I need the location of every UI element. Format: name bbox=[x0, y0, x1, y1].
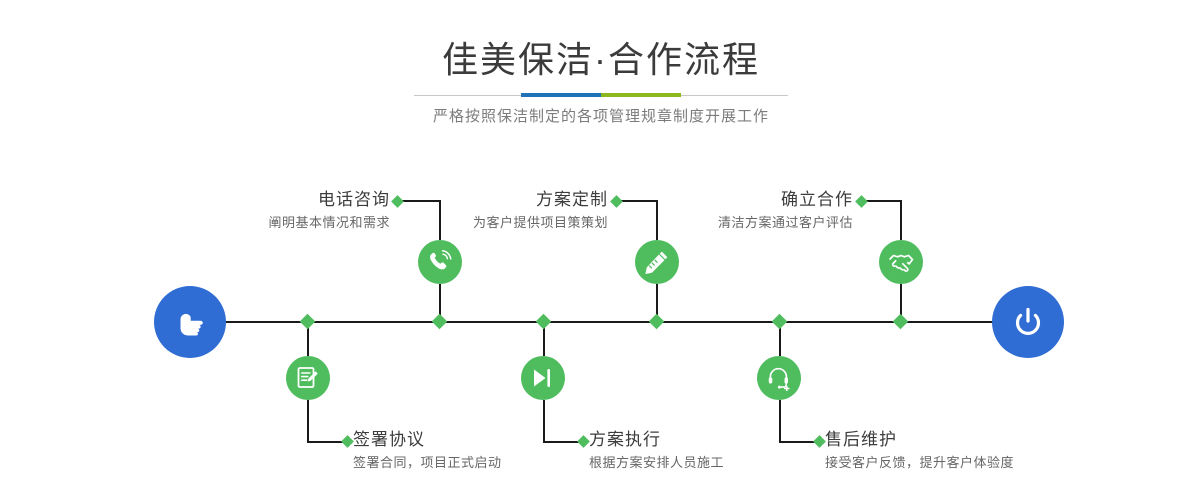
axis-marker-1 bbox=[432, 314, 448, 330]
label-tip-5 bbox=[855, 195, 868, 208]
step-label-2: 签署协议 签署合同，项目正式启动 bbox=[353, 428, 613, 474]
pencil-ruler-icon bbox=[644, 249, 670, 275]
step-title-5: 确立合作 bbox=[615, 188, 853, 212]
step-desc-4: 根据方案安排人员施工 bbox=[589, 452, 849, 474]
step-node-4[interactable] bbox=[521, 356, 565, 400]
page-title: 佳美保洁·合作流程 bbox=[0, 38, 1202, 82]
divider-accent-blue bbox=[521, 93, 601, 97]
axis-marker-3 bbox=[649, 314, 665, 330]
phone-call-icon bbox=[427, 249, 453, 275]
connector-riser-6 bbox=[779, 400, 781, 442]
step-title-2: 签署协议 bbox=[353, 428, 613, 452]
step-node-2[interactable] bbox=[286, 356, 330, 400]
timeline-end-node[interactable] bbox=[992, 286, 1064, 358]
headset-support-icon bbox=[766, 365, 792, 391]
axis-marker-6 bbox=[772, 314, 788, 330]
step-label-6: 售后维护 接受客户反馈，提升客户体验度 bbox=[825, 428, 1125, 474]
step-node-3[interactable] bbox=[635, 240, 679, 284]
handshake-icon bbox=[887, 248, 915, 276]
axis-marker-5 bbox=[893, 314, 909, 330]
power-button-icon bbox=[1008, 302, 1048, 342]
step-title-4: 方案执行 bbox=[589, 428, 849, 452]
play-execute-icon bbox=[530, 365, 556, 391]
step-label-5: 确立合作 清洁方案通过客户评估 bbox=[615, 188, 853, 234]
step-node-1[interactable] bbox=[418, 240, 462, 284]
flowchart-page: 佳美保洁·合作流程 严格按照保洁制定的各项管理规章制度开展工作 bbox=[0, 0, 1202, 502]
axis-marker-2 bbox=[300, 314, 316, 330]
step-node-5[interactable] bbox=[879, 240, 923, 284]
step-desc-2: 签署合同，项目正式启动 bbox=[353, 452, 613, 474]
axis-marker-4 bbox=[536, 314, 552, 330]
connector-riser-4 bbox=[543, 400, 545, 442]
step-desc-3: 为客户提供项目策策划 bbox=[370, 212, 608, 234]
page-subtitle: 严格按照保洁制定的各项管理规章制度开展工作 bbox=[0, 106, 1202, 128]
step-title-3: 方案定制 bbox=[370, 188, 608, 212]
step-label-4: 方案执行 根据方案安排人员施工 bbox=[589, 428, 849, 474]
step-label-3: 方案定制 为客户提供项目策策划 bbox=[370, 188, 608, 234]
document-edit-icon bbox=[295, 365, 321, 391]
step-node-6[interactable] bbox=[757, 356, 801, 400]
label-tip-2 bbox=[341, 435, 354, 448]
connector-riser-2 bbox=[307, 400, 309, 442]
connector-riser-5 bbox=[900, 200, 902, 240]
timeline-start-node[interactable] bbox=[154, 286, 226, 358]
step-title-1: 电话咨询 bbox=[152, 188, 390, 212]
step-desc-6: 接受客户反馈，提升客户体验度 bbox=[825, 452, 1125, 474]
step-desc-1: 阐明基本情况和需求 bbox=[152, 212, 390, 234]
step-title-6: 售后维护 bbox=[825, 428, 1125, 452]
hand-pointing-right-icon bbox=[170, 302, 210, 342]
step-desc-5: 清洁方案通过客户评估 bbox=[615, 212, 853, 234]
divider-accent-green bbox=[601, 93, 681, 97]
step-label-1: 电话咨询 阐明基本情况和需求 bbox=[152, 188, 390, 234]
